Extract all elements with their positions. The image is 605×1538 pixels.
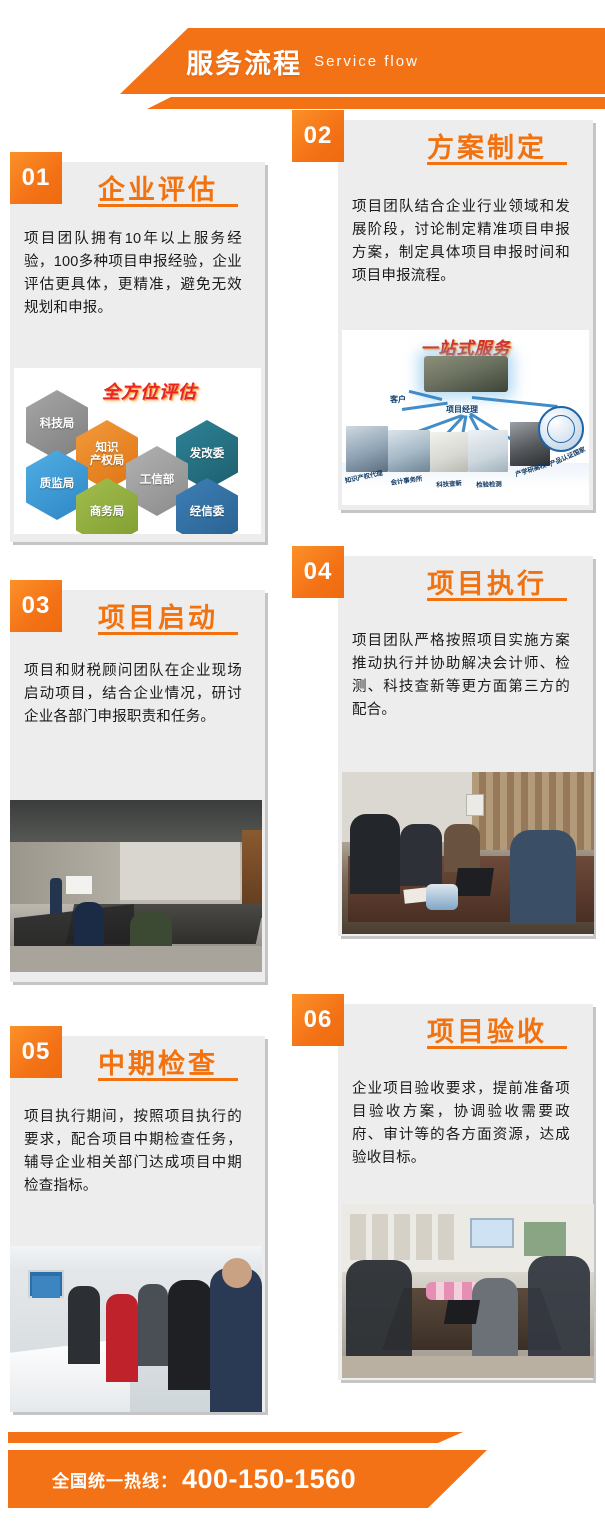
photo-green-board — [524, 1222, 566, 1256]
one-stop-service-label-3: 检验检测 — [476, 479, 502, 489]
photo-projector-screen — [470, 1218, 514, 1248]
step-title-rule-02 — [427, 162, 567, 165]
photo-person-seated — [74, 902, 104, 946]
thumb-accounting-firm — [388, 430, 430, 472]
step-badge-06: 06 — [292, 994, 344, 1046]
certification-seal-icon — [538, 406, 584, 452]
step-badge-02: 02 — [292, 110, 344, 162]
step-badge-01: 01 — [10, 152, 62, 204]
photo-person-standing — [50, 878, 62, 914]
photo-attendees-left — [346, 1260, 412, 1360]
step-title-03: 项目启动 — [98, 596, 218, 635]
photo-person-center-grey — [138, 1284, 168, 1366]
photo-attendee-center — [472, 1278, 518, 1360]
step-title-rule-01 — [98, 204, 238, 207]
page-subtitle: Service flow — [314, 53, 419, 70]
one-stop-label-customer: 客户 — [390, 394, 406, 405]
hex-node-label: 科技局 — [40, 418, 75, 431]
step-title-05: 中期检查 — [98, 1042, 218, 1081]
hex-node-label: 质监局 — [40, 478, 75, 491]
photo-site-visit-group — [10, 1246, 262, 1412]
thumb-inspection-testing — [468, 430, 508, 472]
page-footer: 全国统一热线： 400-150-1560 — [0, 1432, 605, 1516]
photo-person-head — [222, 1258, 252, 1288]
photo-person-dark-left — [68, 1286, 100, 1364]
photo-display-screen-2 — [32, 1276, 60, 1298]
step-badge-03: 03 — [10, 580, 62, 632]
arrow-customer-to-manager — [402, 402, 448, 411]
step-title-rule-06 — [427, 1046, 567, 1049]
photo-person-blue-jacket — [210, 1268, 262, 1412]
photo-laptop-open — [444, 1300, 480, 1324]
photo-attendees-right — [528, 1256, 590, 1360]
hex-node-label: 发改委 — [190, 448, 225, 461]
step-title-06: 项目验收 — [427, 1010, 547, 1049]
step-body-04: 项目团队严格按照项目实施方案推动执行并协助解决会计师、检测、科技查新等更方面第三… — [352, 630, 570, 722]
thumb-ip-agency — [346, 426, 388, 472]
photo-laptop — [454, 868, 494, 896]
step-title-rule-03 — [98, 632, 238, 635]
page-header: 服务流程 Service flow — [0, 0, 605, 112]
step-title-01: 企业评估 — [98, 168, 218, 207]
photo-wall-left — [10, 842, 120, 904]
photo-person-right-blue — [510, 830, 576, 924]
photo-ceiling — [10, 800, 262, 842]
photo-bag — [426, 884, 458, 910]
arrow-hub-to-certification — [472, 396, 558, 408]
page-title: 服务流程 — [186, 42, 302, 81]
hex-node-label: 工信部 — [140, 474, 175, 487]
header-orange-stripe — [0, 97, 605, 109]
step-title-rule-05 — [98, 1078, 238, 1081]
hex-node-label: 商务局 — [90, 506, 125, 519]
photo-person-red-coat — [106, 1294, 138, 1382]
photo-ac-unit — [466, 794, 484, 816]
step-title-02: 方案制定 — [427, 126, 547, 165]
step-badge-04: 04 — [292, 546, 344, 598]
hub-photo-meeting — [424, 356, 508, 392]
photo-person-second — [400, 824, 442, 886]
hotline-label: 全国统一热线： — [52, 1467, 178, 1492]
hex-node-label: 知识 产权局 — [90, 442, 125, 468]
step-body-06: 企业项目验收要求，提前准备项目验收方案，协调验收需要政府、审计等的各方面资源，达… — [352, 1078, 570, 1170]
step-body-01: 项目团队拥有10年以上服务经验，100多种项目申报经验，企业评估更具体，更精准，… — [24, 228, 242, 320]
step-body-03: 项目和财税顾问团队在企业现场启动项目，结合企业情况，研讨企业各部门申报职责和任务… — [24, 660, 242, 729]
footer-hotline-group: 全国统一热线： 400-150-1560 — [52, 1450, 356, 1508]
photo-acceptance-meeting — [342, 1204, 594, 1378]
photo-whiteboard — [66, 876, 92, 894]
hex-chart-title: 全方位评估 — [102, 378, 197, 404]
hotline-number[interactable]: 400-150-1560 — [182, 1464, 356, 1495]
photo-floor-tiles — [342, 1356, 594, 1378]
step-badge-05: 05 — [10, 1026, 62, 1078]
photo-wall-right — [120, 842, 240, 900]
photo-certificates-wall — [350, 1214, 460, 1260]
one-stop-service-label-2: 科技查新 — [436, 478, 462, 489]
header-title-group: 服务流程 Service flow — [0, 28, 605, 94]
step-body-05: 项目执行期间，按照项目执行的要求，配合项目中期检查任务，辅导企业相关部门达成项目… — [24, 1106, 242, 1198]
photo-person-center — [444, 824, 480, 872]
photo-person-left — [350, 814, 400, 894]
photo-person-black-jacket — [168, 1280, 212, 1390]
thumb-tech-search — [430, 432, 468, 472]
footer-orange-stripe — [8, 1432, 605, 1443]
photo-team-working-laptops — [342, 772, 594, 934]
hex-node-label: 经信委 — [190, 506, 225, 519]
photo-conference-room-meeting — [10, 800, 262, 972]
photo-floor — [10, 946, 262, 972]
service-flow-infographic: 服务流程 Service flow 01 企业评估 项目团队拥有10年以上服务经… — [0, 0, 605, 1538]
step-body-02: 项目团队结合企业行业领域和发展阶段，讨论制定精准项目申报方案，制定具体项目申报时… — [352, 196, 570, 288]
one-stop-service-diagram: 一站式服务 客户 项目经理 知识产权代理 会计事务所 科技查新 检验检测 产学研… — [342, 330, 589, 505]
step-title-rule-04 — [427, 598, 567, 601]
step-title-04: 项目执行 — [427, 562, 547, 601]
assessment-hex-chart: 全方位评估 科技局 知识 产权局 发改委 质监局 工信部 商务局 经信委 — [14, 368, 261, 534]
